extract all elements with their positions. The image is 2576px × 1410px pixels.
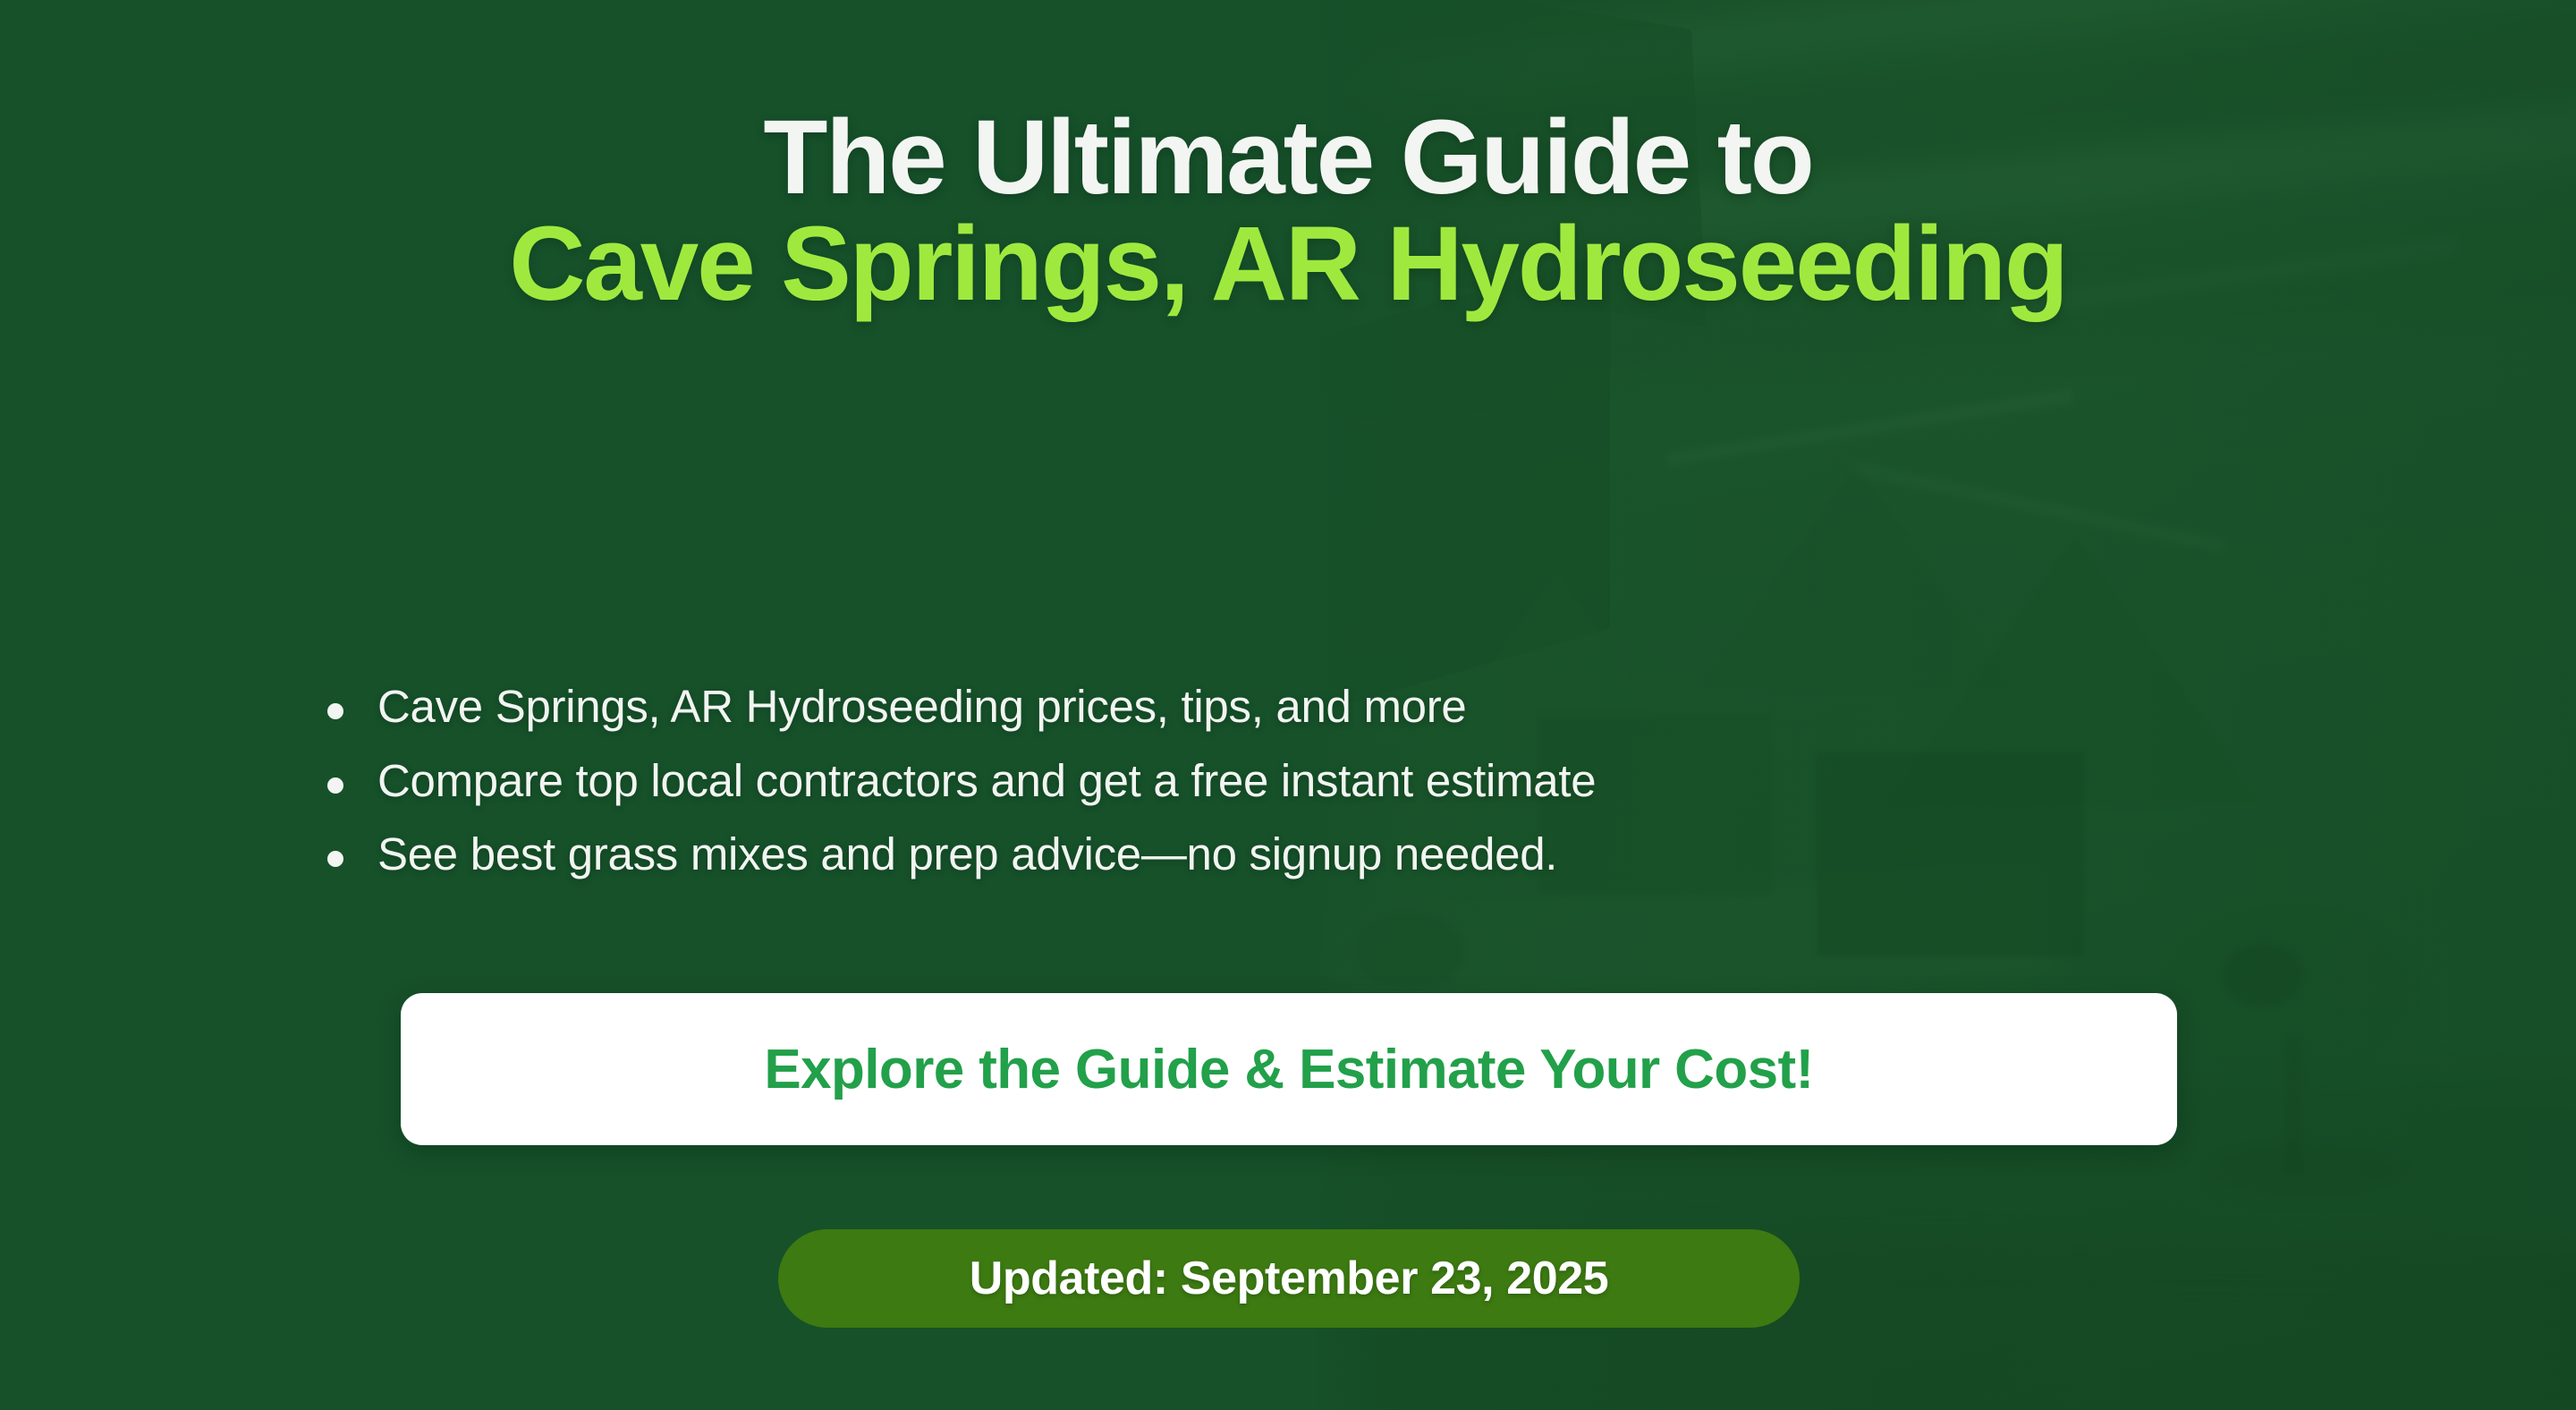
page-title: The Ultimate Guide to Cave Springs, AR H… — [0, 105, 2576, 318]
benefit-list: Cave Springs, AR Hydroseeding prices, ti… — [322, 680, 2254, 902]
headline-line-1: The Ultimate Guide to — [107, 105, 2469, 211]
headline-line-2: Cave Springs, AR Hydroseeding — [107, 211, 2469, 318]
list-item: Cave Springs, AR Hydroseeding prices, ti… — [322, 680, 2254, 734]
list-item: See best grass mixes and prep advice—no … — [322, 828, 2254, 881]
updated-date-badge: Updated: September 23, 2025 — [778, 1229, 1800, 1328]
banner-content: The Ultimate Guide to Cave Springs, AR H… — [0, 0, 2576, 1410]
list-item: Compare top local contractors and get a … — [322, 754, 2254, 808]
explore-guide-cta-button[interactable]: Explore the Guide & Estimate Your Cost! — [401, 993, 2177, 1145]
hero-banner: The Ultimate Guide to Cave Springs, AR H… — [0, 0, 2576, 1410]
